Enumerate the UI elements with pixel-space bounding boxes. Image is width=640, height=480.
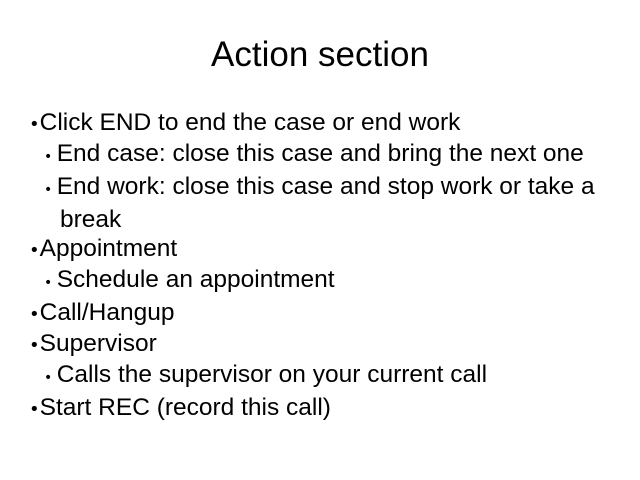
list-item-label: Click END to end the case or end work — [40, 109, 461, 136]
list-item-label: Calls the supervisor on your current cal… — [57, 361, 487, 388]
list-item: • End case: close this case and bring th… — [60, 139, 611, 172]
presentation-slide: Action section •Click END to end the cas… — [0, 0, 640, 480]
bullet-list: •Click END to end the case or end work •… — [29, 108, 611, 424]
list-item: •Supervisor — [41, 329, 611, 360]
list-item-label: Start REC (record this call) — [40, 394, 331, 421]
bullet-dot-icon: • — [44, 275, 57, 291]
bullet-dot-icon: • — [44, 182, 57, 198]
list-item: •Appointment — [41, 234, 611, 265]
list-item: • End work: close this case and stop wor… — [60, 172, 611, 234]
page-title: Action section — [32, 34, 608, 76]
list-item-label: Supervisor — [40, 330, 157, 357]
list-item: •Call/Hangup — [41, 298, 611, 329]
bullet-dot-icon: • — [29, 399, 40, 420]
list-item-label: End case: close this case and bring the … — [57, 140, 584, 167]
list-item-label: End work: close this case and stop work … — [57, 173, 595, 233]
bullet-dot-icon: • — [29, 114, 40, 135]
list-item-label: Schedule an appointment — [57, 266, 335, 293]
list-item: •Start REC (record this call) — [41, 393, 611, 424]
list-item: • Calls the supervisor on your current c… — [60, 360, 611, 393]
bullet-dot-icon: • — [44, 149, 57, 165]
list-item-label: Call/Hangup — [40, 299, 175, 326]
list-item-label: Appointment — [40, 235, 178, 262]
bullet-dot-icon: • — [29, 240, 40, 261]
bullet-dot-icon: • — [44, 370, 57, 386]
bullet-dot-icon: • — [29, 304, 40, 325]
list-item: • Schedule an appointment — [60, 265, 611, 298]
bullet-dot-icon: • — [29, 335, 40, 356]
list-item: •Click END to end the case or end work — [41, 108, 611, 139]
